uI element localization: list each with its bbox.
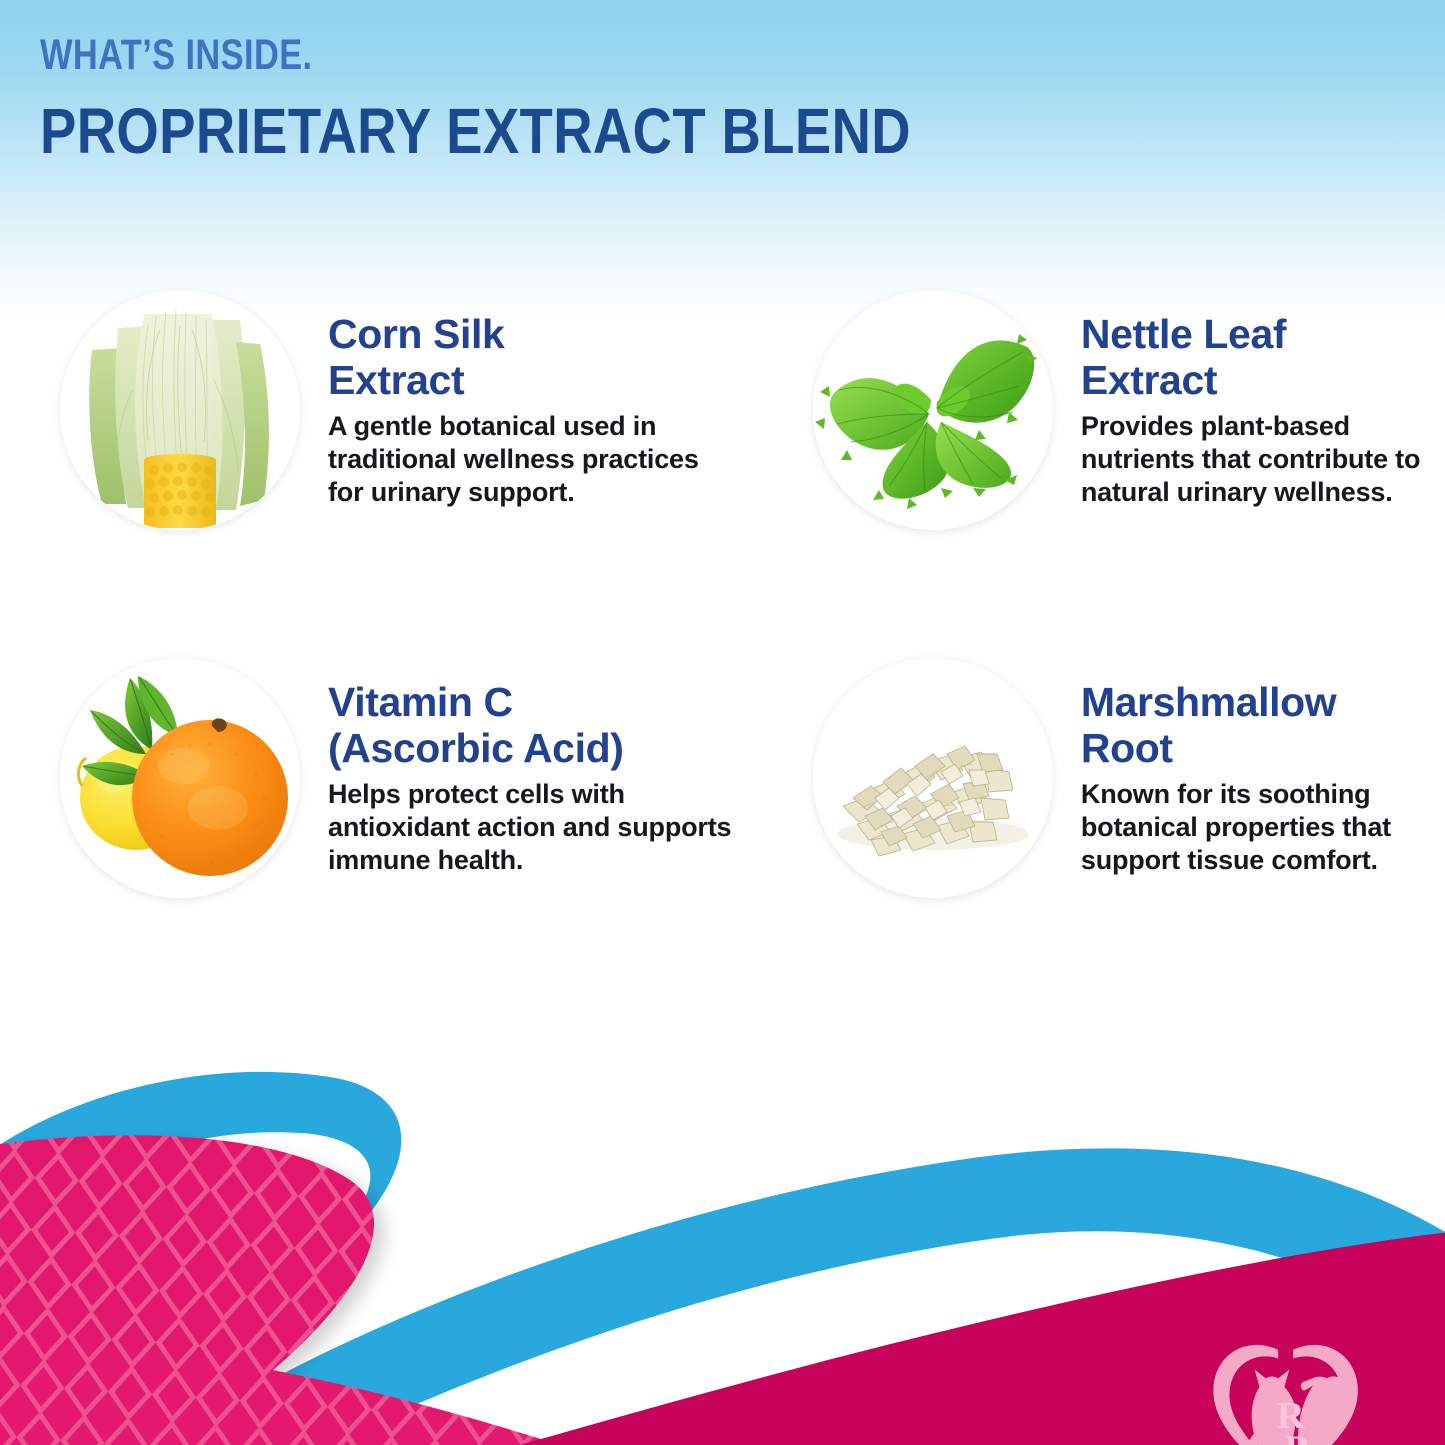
citrus-fruit-image	[60, 658, 300, 898]
nettle-leaf-image	[813, 290, 1053, 530]
corn-silk-image	[60, 290, 300, 530]
bottom-wave-decoration: R P	[0, 1045, 1445, 1445]
card-description: Known for its soothing botanical propert…	[1081, 778, 1441, 877]
page-title: PROPRIETARY EXTRACT BLEND	[40, 99, 1060, 163]
logo-monogram-p: P	[1284, 1428, 1307, 1445]
card-description: Helps protect cells with antioxidant act…	[328, 778, 748, 877]
card-title: Vitamin C (Ascorbic Acid)	[328, 680, 748, 772]
card-title: Marshmallow Root	[1081, 680, 1441, 772]
page-header: WHAT’S INSIDE. PROPRIETARY EXTRACT BLEND	[40, 34, 1240, 163]
eyebrow-text: WHAT’S INSIDE.	[40, 34, 1000, 77]
card-description: A gentle botanical used in traditional w…	[328, 410, 728, 509]
card-text-block: Vitamin C (Ascorbic Acid) Helps protect …	[300, 658, 748, 877]
card-title: Corn Silk Extract	[328, 312, 728, 404]
card-text-block: Corn Silk Extract A gentle botanical use…	[300, 290, 728, 509]
marshmallow-root-image	[813, 658, 1053, 898]
card-text-block: Marshmallow Root Known for its soothing …	[1053, 658, 1441, 877]
card-title: Nettle Leaf Extract	[1081, 312, 1431, 404]
card-row-1: Corn Silk Extract A gentle botanical use…	[0, 290, 1445, 530]
ingredient-card-nettle-leaf: Nettle Leaf Extract Provides plant-based…	[788, 290, 1445, 530]
ingredient-card-grid: Corn Silk Extract A gentle botanical use…	[0, 290, 1445, 898]
card-row-2: Vitamin C (Ascorbic Acid) Helps protect …	[0, 658, 1445, 898]
ingredient-card-vitamin-c: Vitamin C (Ascorbic Acid) Helps protect …	[0, 658, 788, 898]
card-text-block: Nettle Leaf Extract Provides plant-based…	[1053, 290, 1431, 509]
ingredient-card-marshmallow-root: Marshmallow Root Known for its soothing …	[788, 658, 1445, 898]
ingredient-card-corn-silk: Corn Silk Extract A gentle botanical use…	[0, 290, 788, 530]
card-description: Provides plant-based nutrients that cont…	[1081, 410, 1431, 509]
